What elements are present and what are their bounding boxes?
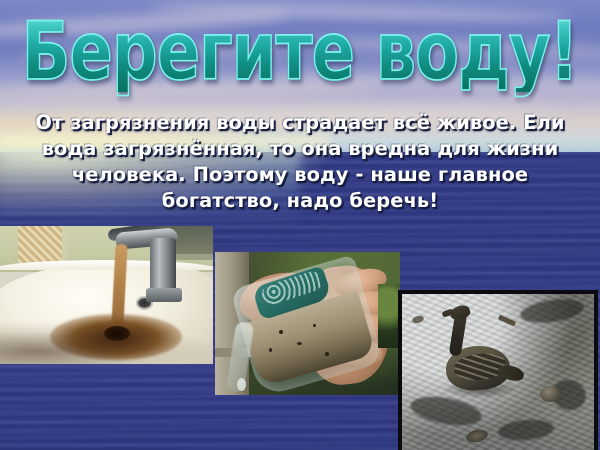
sediment-speck	[269, 348, 272, 352]
foliage-strip	[378, 284, 400, 348]
cloud-band	[300, 34, 600, 61]
photo-glass-dirty-water	[215, 252, 400, 395]
sediment-speck	[279, 330, 283, 334]
faucet-base	[146, 288, 182, 302]
cloud-band	[20, 41, 320, 63]
debris	[540, 386, 560, 402]
photo-dirty-tap-water	[0, 226, 213, 364]
photo-oiled-bird	[398, 290, 598, 450]
sink-drain	[104, 326, 130, 341]
water-drop	[237, 378, 246, 391]
sink-rim	[0, 260, 213, 270]
sediment-speck	[297, 342, 302, 345]
slide-body-text: От загрязнения воды страдает всё живое. …	[34, 110, 566, 214]
sediment-speck	[325, 352, 329, 356]
presentation-slide: Берегите воду! От загрязнения воды страд…	[0, 0, 600, 450]
sediment-speck	[313, 324, 316, 327]
